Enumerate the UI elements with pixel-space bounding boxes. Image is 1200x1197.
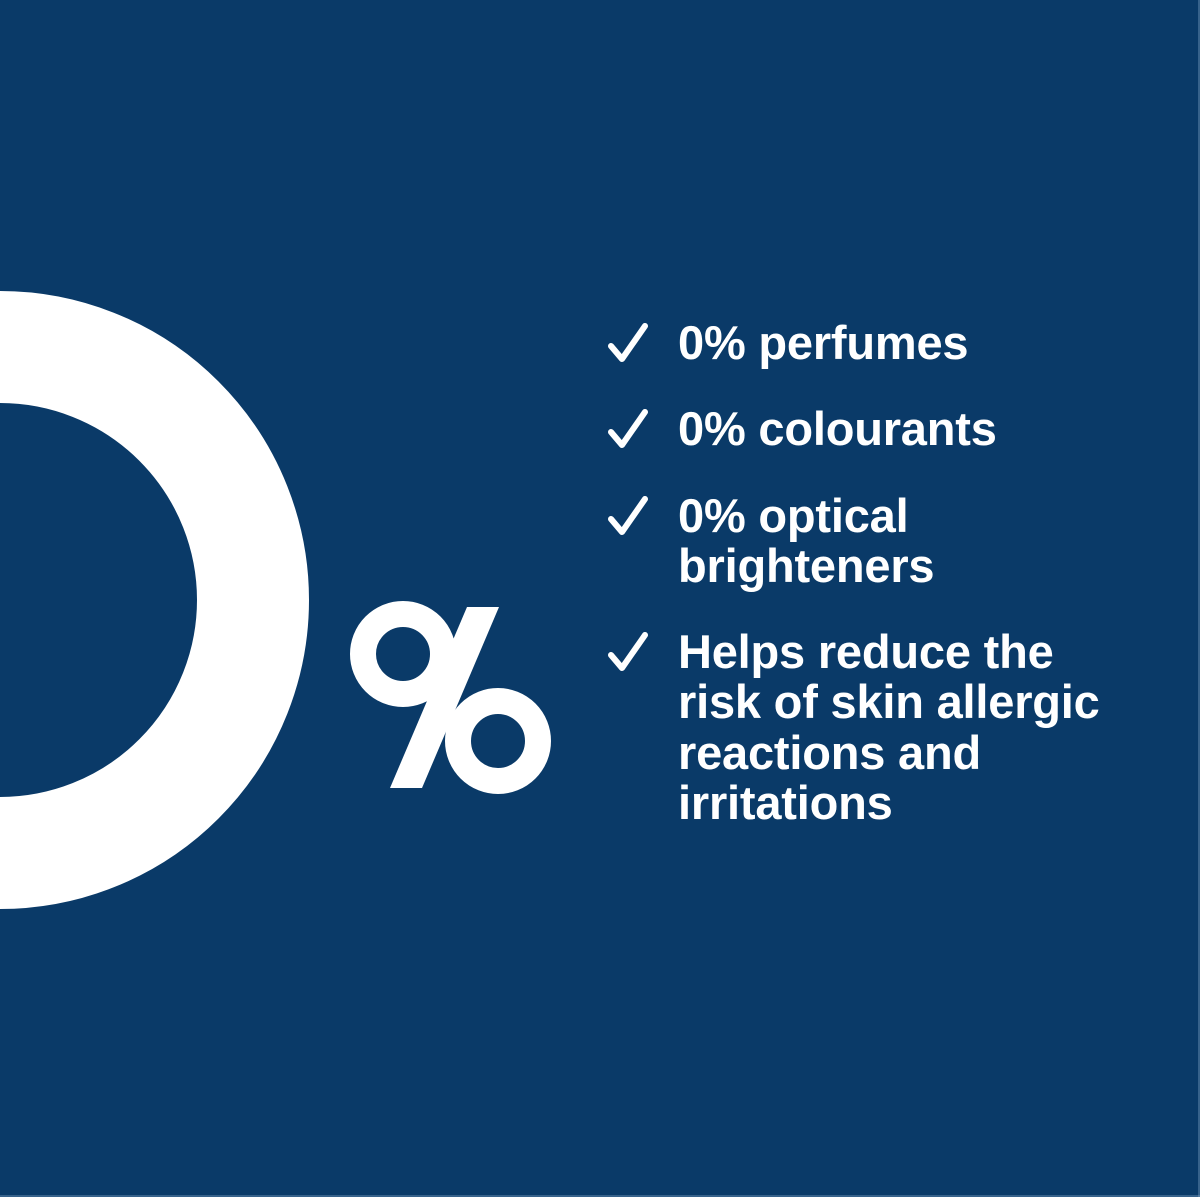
check-icon — [608, 322, 648, 368]
check-icon — [608, 631, 648, 677]
claim-item-optical-brighteners: 0% optical brighteners — [608, 491, 1168, 592]
claim-label: 0% perfumes — [678, 318, 968, 368]
check-icon — [608, 408, 648, 454]
zero-percent-graphic — [0, 0, 600, 1197]
claim-label: 0% colourants — [678, 404, 997, 454]
product-claims-banner: 0% perfumes 0% colourants 0% optical bri… — [0, 0, 1200, 1197]
percent-sign-icon — [348, 600, 553, 795]
claims-list: 0% perfumes 0% colourants 0% optical bri… — [608, 318, 1168, 828]
claim-item-skin-allergic-reactions: Helps reduce the risk of skin allergic r… — [608, 627, 1168, 828]
claim-item-colourants: 0% colourants — [608, 404, 1168, 454]
claim-label: 0% optical brighteners — [678, 491, 934, 592]
claim-item-perfumes: 0% perfumes — [608, 318, 1168, 368]
claim-label: Helps reduce the risk of skin allergic r… — [678, 627, 1100, 828]
check-icon — [608, 495, 648, 541]
zero-digit-ring-icon — [0, 290, 310, 910]
